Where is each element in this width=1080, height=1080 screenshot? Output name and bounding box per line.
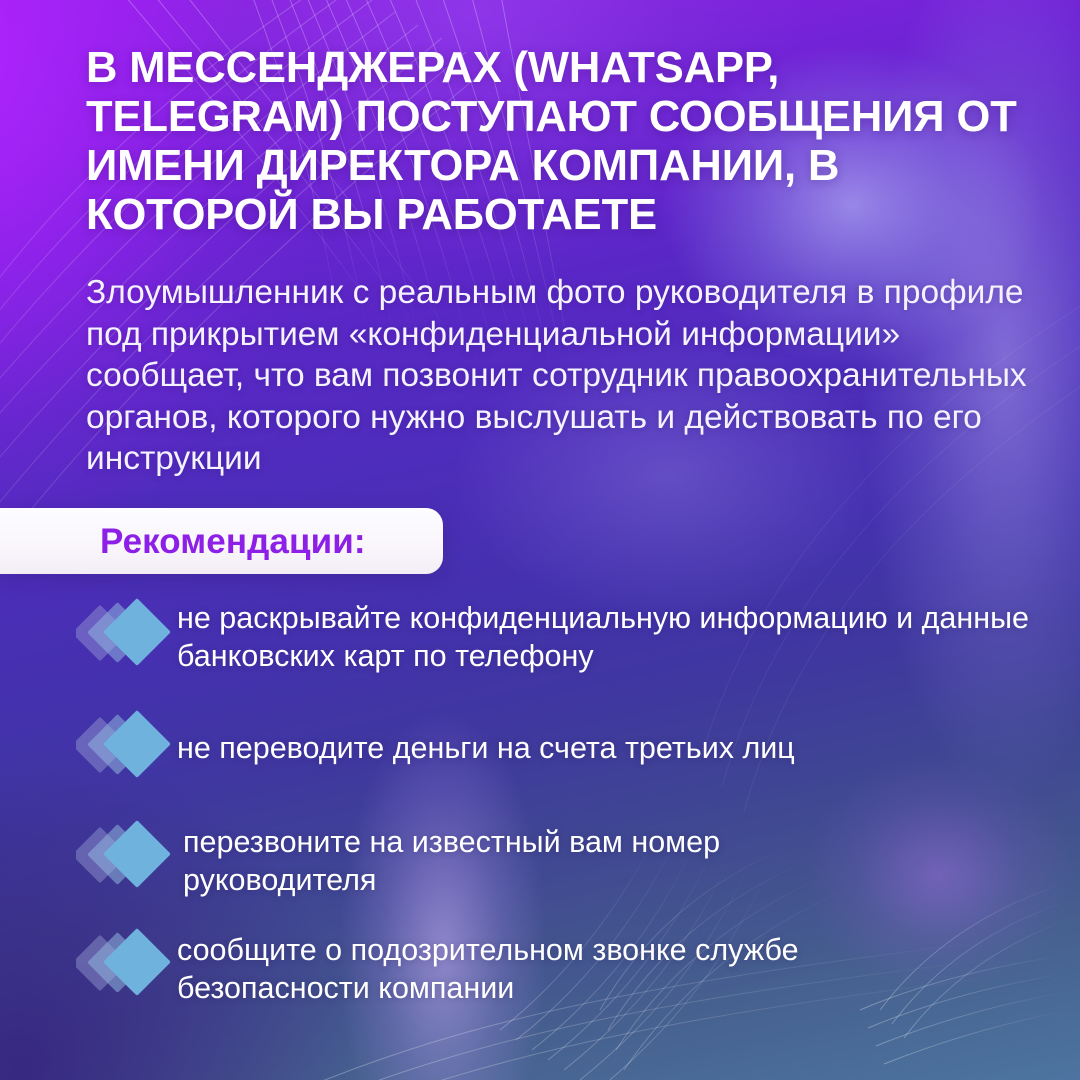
recommendations-label: Рекомендации:: [100, 524, 366, 559]
diamond-stack-icon: [76, 594, 172, 672]
list-item-text: не раскрывайте конфиденциальную информац…: [177, 600, 1077, 675]
list-item-text: сообщите о подозрительном звонке службе …: [177, 932, 857, 1007]
diamond-stack-icon: [76, 924, 172, 1002]
description-text: Злоумышленник с реальным фото руководите…: [86, 272, 1036, 480]
poster-canvas: В мессенджерах (WhatsApp, Telegram) пост…: [0, 0, 1080, 1080]
recommendations-banner: Рекомендации:: [0, 508, 443, 574]
page-title: В мессенджерах (WhatsApp, Telegram) пост…: [86, 44, 1046, 240]
list-item-text: не переводите деньги на счета третьих ли…: [177, 730, 1077, 768]
diamond-stack-icon: [76, 706, 172, 784]
diamond-stack-icon: [76, 816, 172, 894]
list-item-text: перезвоните на известный вам номер руков…: [183, 824, 883, 899]
